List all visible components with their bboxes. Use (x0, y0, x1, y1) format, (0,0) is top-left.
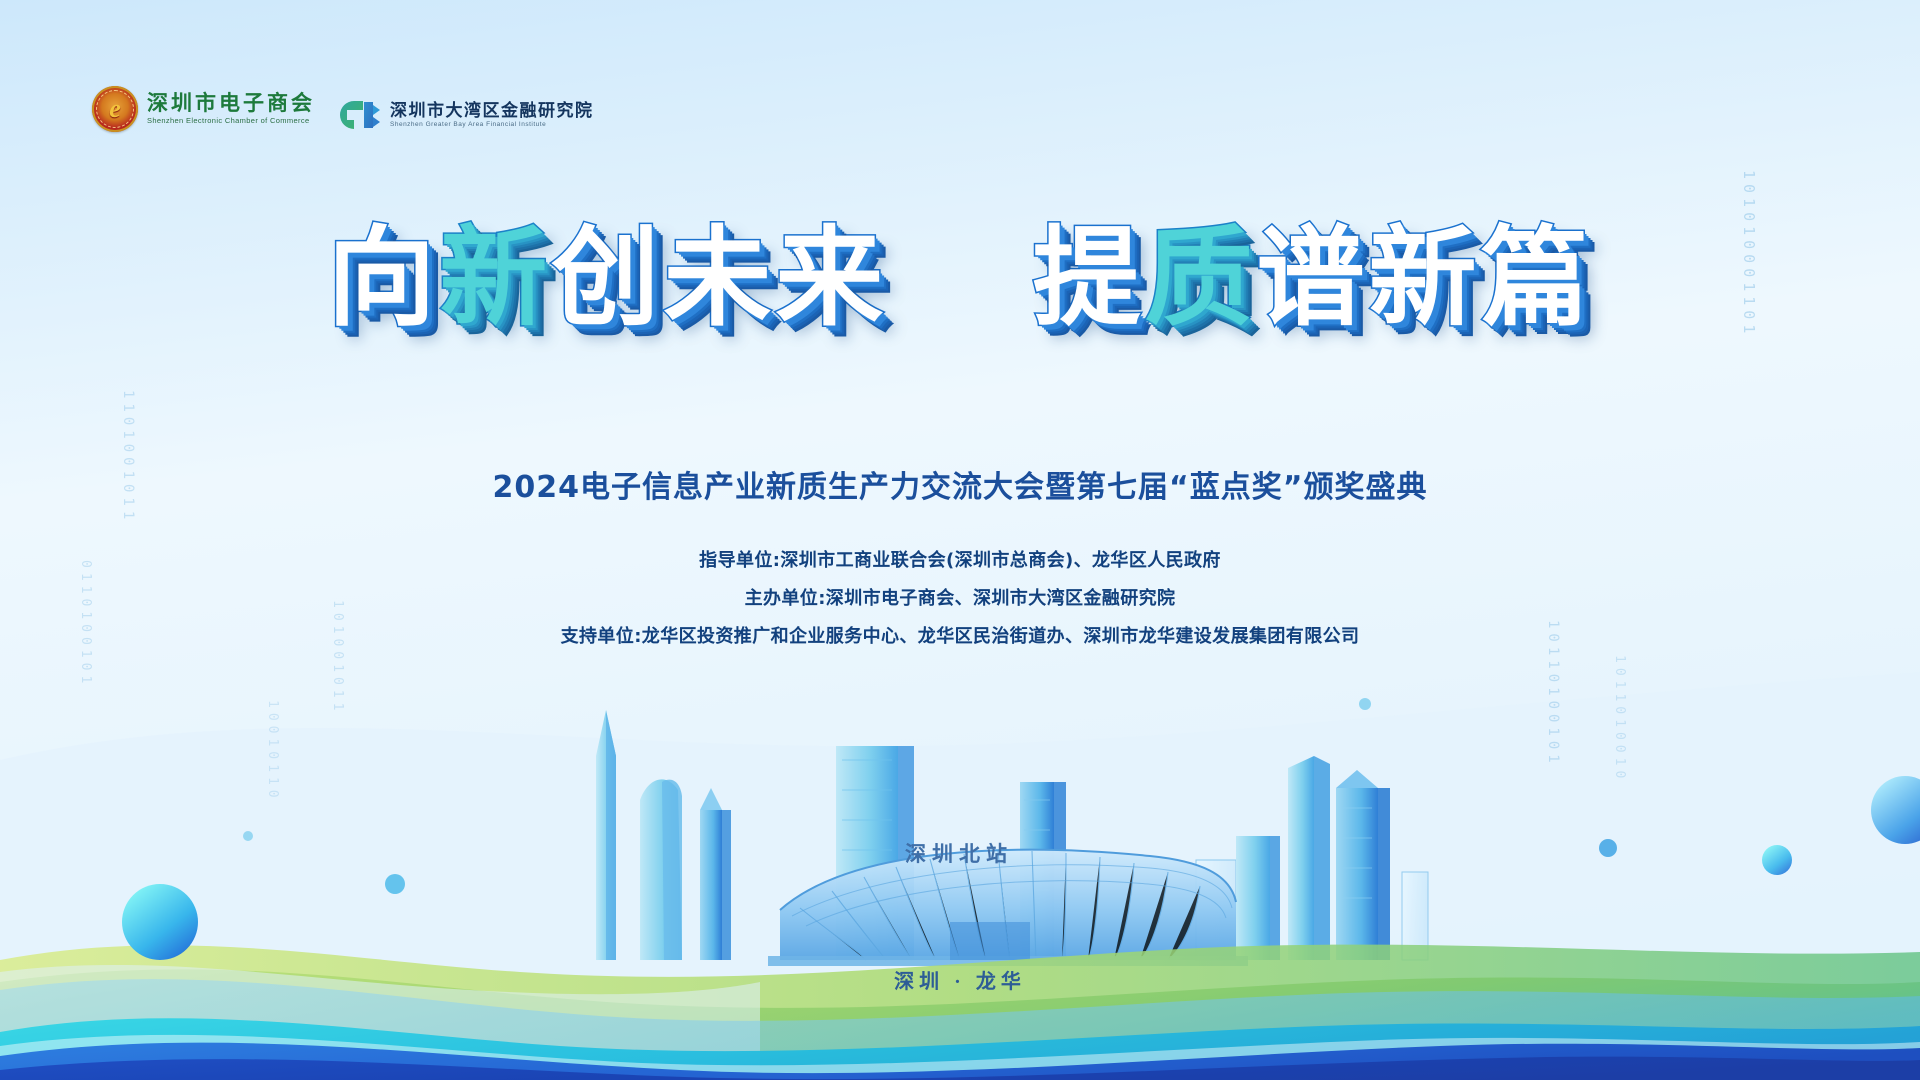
seal-e-glyph: e (92, 86, 138, 132)
headline-char: 来 (775, 225, 887, 333)
skyline-scene (0, 660, 1920, 1080)
logo-greater-bay-area-financial-institute: 深圳市大湾区金融研究院 Shenzhen Greater Bay Area Fi… (337, 98, 594, 132)
headline-char: 新 (439, 225, 551, 333)
chamber-seal-icon: e (92, 86, 138, 132)
headline-char: 向 (327, 225, 439, 333)
chamber-name-en: Shenzhen Electronic Chamber of Commerce (147, 117, 315, 125)
organizer-line-support: 支持单位:龙华区投资推广和企业服务中心、龙华区民治街道办、深圳市龙华建设发展集团… (561, 622, 1360, 648)
gbi-mark-icon (337, 98, 381, 132)
headline-char: 质 (1145, 225, 1257, 333)
headline-char: 新 (1369, 225, 1481, 333)
city-label: 深圳 · 龙华 (0, 965, 1920, 994)
organizer-list: 指导单位:深圳市工商业联合会(深圳市总商会)、龙华区人民政府 主办单位:深圳市电… (0, 546, 1920, 648)
headline-char: 创 (551, 225, 663, 333)
headline-phrase-2: 提质谱新篇 (1033, 225, 1593, 333)
headline-char: 未 (663, 225, 775, 333)
organizer-line-guidance: 指导单位:深圳市工商业联合会(深圳市总商会)、龙华区人民政府 (699, 546, 1221, 572)
headline-char: 提 (1033, 225, 1145, 333)
chamber-name-cn: 深圳市电子商会 (147, 93, 315, 114)
headline-char: 谱 (1257, 225, 1369, 333)
station-label: 深圳北站 (905, 838, 1013, 868)
gbi-name-cn: 深圳市大湾区金融研究院 (390, 102, 594, 119)
organizer-line-host: 主办单位:深圳市电子商会、深圳市大湾区金融研究院 (745, 584, 1176, 610)
headline-char: 篇 (1481, 225, 1593, 333)
page-subtitle: 2024电子信息产业新质生产力交流大会暨第七届“蓝点奖”颁奖盛典 (0, 462, 1920, 506)
gbi-name-en: Shenzhen Greater Bay Area Financial Inst… (390, 122, 594, 129)
banner-canvas: 101010001101 10110100101 1011010010 1101… (0, 0, 1920, 1080)
headline-phrase-1: 向新创未来 (327, 225, 887, 333)
logo-bar: e 深圳市电子商会 Shenzhen Electronic Chamber of… (92, 86, 594, 132)
logo-shenzhen-electronic-chamber-of-commerce: e 深圳市电子商会 Shenzhen Electronic Chamber of… (92, 86, 315, 132)
page-title: 向新创未来 提质谱新篇 (0, 225, 1920, 333)
